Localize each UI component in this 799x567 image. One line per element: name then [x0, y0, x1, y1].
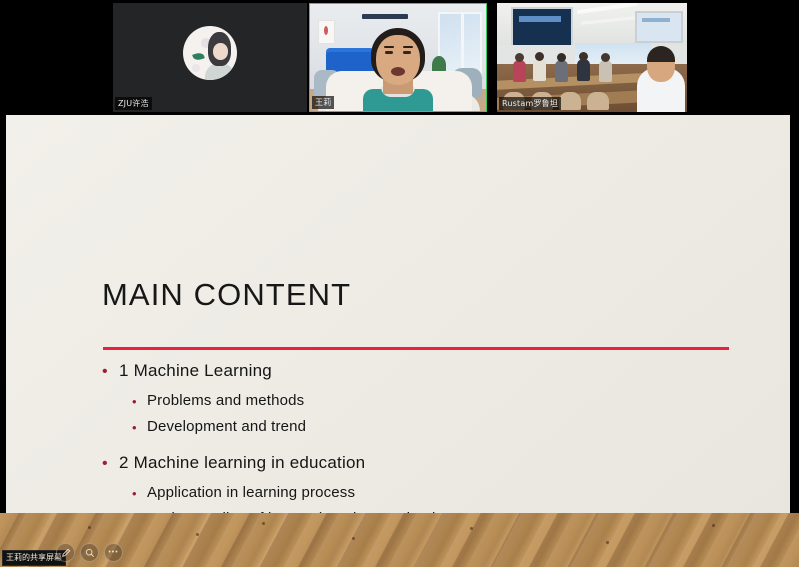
more-options-label: ••• [108, 549, 118, 556]
bullet-dot-icon: • [132, 484, 147, 500]
video-filmstrip: ZJU许浩 王莉 [0, 0, 799, 115]
student-head [535, 52, 544, 61]
student-head [601, 53, 610, 62]
wall-monitor-left [511, 7, 573, 47]
slide-content: • 1 Machine Learning • Problems and meth… [102, 361, 742, 513]
title-divider [103, 347, 729, 350]
bullet-level1: • 2 Machine learning in education [102, 453, 742, 473]
avatar [183, 26, 237, 80]
student-head [557, 53, 566, 62]
bullet-text: 2 Machine learning in education [119, 453, 365, 473]
student [513, 60, 526, 82]
room-window-frame [461, 12, 464, 74]
seat [559, 92, 581, 110]
bullet-level2: • Application in learning process [102, 484, 742, 501]
video-tile-participant-1[interactable]: ZJU许浩 [113, 3, 307, 112]
bullet-dot-icon: • [102, 361, 119, 380]
participant-name-label: ZJU许浩 [115, 97, 152, 110]
bullet-level2: • Problems and methods [102, 392, 742, 409]
annotate-icon[interactable] [56, 543, 75, 562]
person-mouth [391, 67, 405, 76]
person-eye-left [385, 51, 393, 54]
student-head [579, 52, 588, 61]
bullet-level1: • 1 Machine Learning [102, 361, 742, 381]
participant-name-label: Rustam罗鲁坦 [499, 97, 561, 110]
bullet-text: Problems and methods [147, 392, 304, 409]
video-tile-participant-3[interactable]: Rustam罗鲁坦 [497, 3, 687, 112]
zoom-meeting-window: ZJU许浩 王莉 [0, 0, 799, 567]
seat [587, 92, 609, 110]
more-options-icon[interactable]: ••• [104, 543, 123, 562]
avatar-decor [192, 64, 200, 72]
shared-slide[interactable]: MAIN CONTENT • 1 Machine Learning • Prob… [6, 115, 790, 513]
screenshare-controls: ••• [56, 543, 123, 562]
person-eyebrow-right [403, 46, 413, 48]
wall-monitor-right [635, 11, 683, 43]
participant-name-label: 王莉 [312, 96, 334, 109]
bullet-level2: • Development and trend [102, 418, 742, 435]
bullet-text: Application in learning process [147, 484, 355, 501]
spacer [102, 444, 742, 453]
frame-edge-right [790, 115, 799, 513]
avatar-face [213, 43, 228, 60]
bullet-dot-icon: • [132, 418, 147, 434]
bullet-text: Development and trend [147, 418, 306, 435]
person-eye-right [403, 51, 411, 54]
person-eyebrow-left [384, 46, 394, 48]
student [555, 60, 568, 82]
student [599, 60, 612, 82]
bullet-dot-icon: • [102, 453, 119, 472]
person-face [376, 35, 420, 85]
zoom-magnifier-icon[interactable] [80, 543, 99, 562]
wall-art [318, 20, 335, 44]
video-tile-participant-2[interactable]: 王莉 [309, 3, 487, 112]
bullet-text: 1 Machine Learning [119, 361, 272, 381]
student [577, 59, 590, 81]
student [533, 59, 546, 81]
wall-vent [362, 14, 408, 19]
avatar-leaf [192, 52, 205, 62]
student-head [515, 53, 524, 62]
bullet-dot-icon: • [132, 392, 147, 408]
slide-title: MAIN CONTENT [102, 277, 351, 313]
